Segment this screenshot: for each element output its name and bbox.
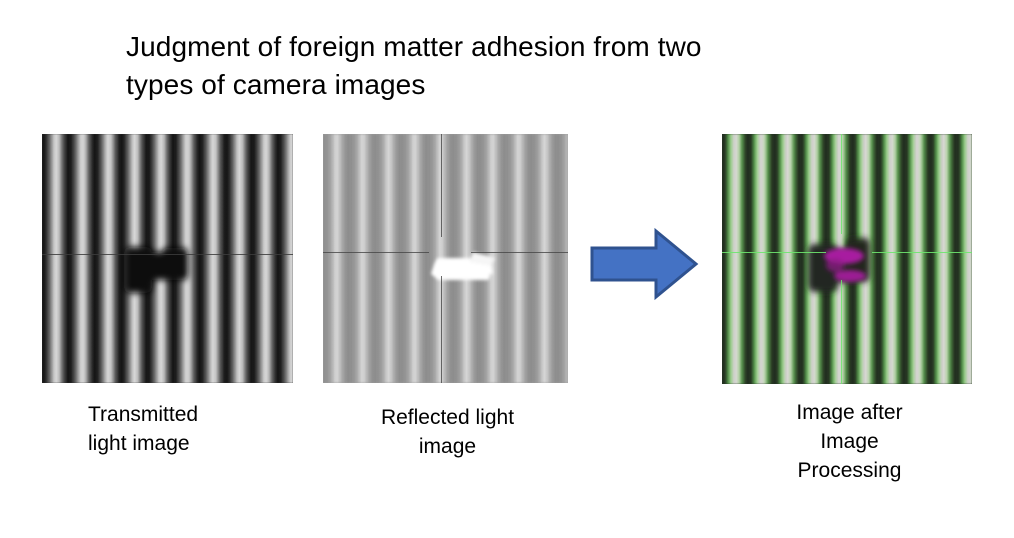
reticle-bottom-processed [841,280,842,384]
foreign-matter-blob-reflected [323,134,568,383]
reticle-left-reflected [323,252,429,253]
foreign-matter-blob-processed [722,134,972,384]
caption-processed-image: Image after Image Processing [742,398,957,485]
reticle-left-processed [722,252,826,253]
right-arrow-icon [588,226,700,302]
foreign-matter-blob-transmitted [42,134,293,383]
transmitted-light-image [42,134,293,383]
reticle-bottom-reflected [441,276,442,383]
reticle-top-processed [841,134,842,234]
reflected-light-image [323,134,568,383]
reticle-horizontal-transmitted [42,254,293,255]
reticle-right-reflected [471,252,568,253]
processed-image [722,134,972,384]
reticle-top-reflected [441,134,442,237]
page-title: Judgment of foreign matter adhesion from… [126,28,896,104]
reticle-right-processed [872,252,972,253]
caption-transmitted-light-image: Transmitted light image [88,400,288,458]
caption-reflected-light-image: Reflected light image [340,403,555,461]
